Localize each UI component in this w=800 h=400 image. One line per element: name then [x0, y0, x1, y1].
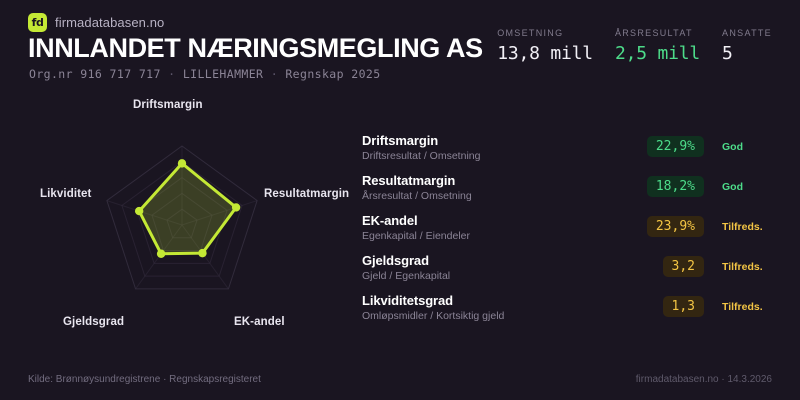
footer-site: firmadatabasen.no · 14.3.2026	[636, 374, 772, 385]
metric-rating: God	[722, 181, 743, 193]
company-accounting-year: Regnskap 2025	[285, 67, 380, 81]
metric-value-badge: 23,9%	[647, 216, 704, 237]
kpi-omsetning: OMSETNING 13,8 mill	[497, 28, 593, 64]
footer: Kilde: Brønnøysundregistrene · Regnskaps…	[0, 362, 800, 400]
footer-source: Kilde: Brønnøysundregistrene · Regnskaps…	[28, 374, 261, 385]
metrics-list: Driftsmargin Driftsresultat / Omsetning …	[362, 128, 772, 328]
kpi-ansatte-label: ANSATTE	[722, 28, 772, 38]
metric-formula: Driftsresultat / Omsetning	[362, 149, 652, 163]
metric-name: Resultatmargin	[362, 173, 652, 188]
kpi-arsresultat: ÅRSRESULTAT 2,5 mill	[615, 28, 700, 64]
metric-name: Driftsmargin	[362, 133, 652, 148]
radar-label-likviditet: Likviditet	[40, 188, 91, 200]
kpi-omsetning-label: OMSETNING	[497, 28, 593, 38]
company-financial-card: fd firmadatabasen.no INNLANDET NÆRINGSME…	[0, 0, 800, 400]
radar-data-point	[232, 203, 240, 211]
kpi-ansatte-value: 5	[722, 43, 772, 64]
radar-data-point	[198, 249, 206, 257]
metric-formula: Omløpsmidler / Kortsiktig gjeld	[362, 309, 652, 323]
radar-chart: Driftsmargin Resultatmargin EK-andel Gje…	[0, 88, 355, 346]
meta-separator-2: ·	[271, 67, 278, 81]
metric-name: Gjeldsgrad	[362, 253, 652, 268]
radar-label-gjeldsgrad: Gjeldsgrad	[63, 316, 124, 328]
metric-rating: God	[722, 141, 743, 153]
metric-row-likviditetsgrad[interactable]: Likviditetsgrad Omløpsmidler / Kortsikti…	[362, 288, 772, 328]
metric-row-gjeldsgrad[interactable]: Gjeldsgrad Gjeld / Egenkapital 3,2 Tilfr…	[362, 248, 772, 288]
metric-formula: Årsresultat / Omsetning	[362, 189, 652, 203]
metric-value-badge: 22,9%	[647, 136, 704, 157]
metric-rating: Tilfreds.	[722, 221, 763, 233]
radar-label-resultatmargin: Resultatmargin	[264, 188, 349, 200]
brand-name: firmadatabasen.no	[55, 15, 164, 30]
company-meta: Org.nr 916 717 717 · LILLEHAMMER · Regns…	[29, 67, 381, 81]
company-orgnr: Org.nr 916 717 717	[29, 67, 161, 81]
metric-name: Likviditetsgrad	[362, 293, 652, 308]
kpi-arsresultat-label: ÅRSRESULTAT	[615, 28, 700, 38]
page-title: INNLANDET NÆRINGSMEGLING AS	[28, 33, 483, 64]
metric-formula: Gjeld / Egenkapital	[362, 269, 652, 283]
radar-label-driftsmargin: Driftsmargin	[133, 99, 203, 111]
header: fd firmadatabasen.no INNLANDET NÆRINGSME…	[0, 0, 800, 88]
metric-formula: Egenkapital / Eiendeler	[362, 229, 652, 243]
metric-rating: Tilfreds.	[722, 261, 763, 273]
firmadatabasen-logo-icon: fd	[28, 13, 47, 32]
radar-chart-svg	[0, 88, 355, 346]
meta-separator-1: ·	[168, 67, 175, 81]
metric-row-ek-andel[interactable]: EK-andel Egenkapital / Eiendeler 23,9% T…	[362, 208, 772, 248]
kpi-arsresultat-value: 2,5 mill	[615, 43, 700, 64]
radar-data-point	[135, 207, 143, 215]
kpi-ansatte: ANSATTE 5	[722, 28, 772, 64]
company-city: LILLEHAMMER	[183, 67, 264, 81]
metric-row-driftsmargin[interactable]: Driftsmargin Driftsresultat / Omsetning …	[362, 128, 772, 168]
metric-value-badge: 1,3	[663, 296, 704, 317]
metric-value-badge: 18,2%	[647, 176, 704, 197]
radar-data-point	[157, 250, 165, 258]
kpi-omsetning-value: 13,8 mill	[497, 43, 593, 64]
radar-data-point	[178, 159, 186, 167]
metric-row-resultatmargin[interactable]: Resultatmargin Årsresultat / Omsetning 1…	[362, 168, 772, 208]
kpi-strip: OMSETNING 13,8 mill ÅRSRESULTAT 2,5 mill…	[497, 28, 772, 64]
metric-value-badge: 3,2	[663, 256, 704, 277]
metric-rating: Tilfreds.	[722, 301, 763, 313]
radar-label-ek-andel: EK-andel	[234, 316, 285, 328]
brand[interactable]: fd firmadatabasen.no	[28, 13, 164, 32]
metric-name: EK-andel	[362, 213, 652, 228]
radar-series-area	[139, 163, 236, 253]
